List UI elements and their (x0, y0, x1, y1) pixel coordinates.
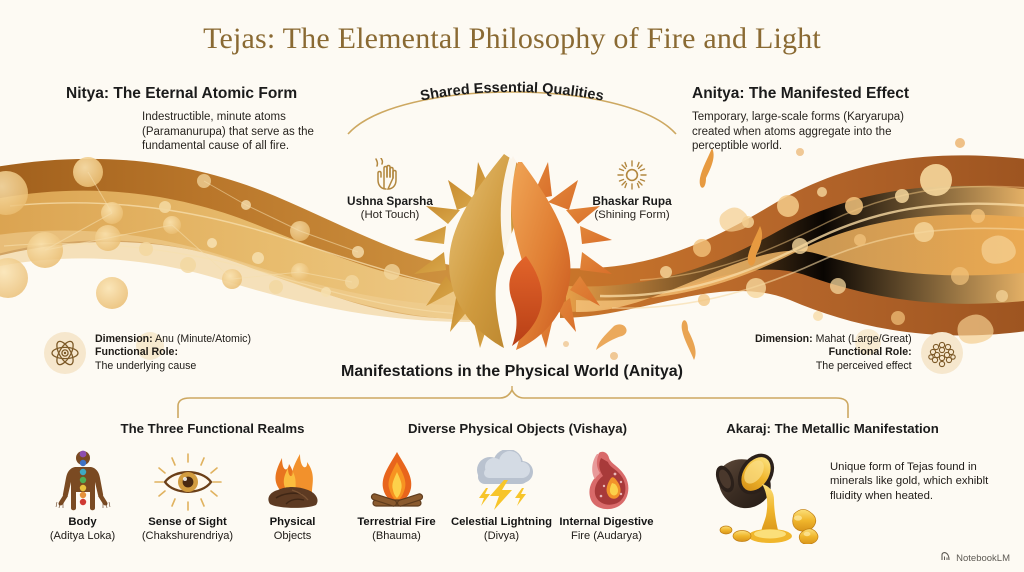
right-pillar-body: Temporary, large-scale forms (Karyarupa)… (692, 110, 907, 154)
arc-label: Shared Essential Qualities (419, 80, 605, 105)
quality-name: Ushna Sparsha (324, 194, 456, 208)
quality-sub: (Shining Form) (566, 208, 698, 222)
list-item[interactable]: Terrestrial Fire (Bhauma) (344, 450, 449, 543)
stomach-fire-icon (554, 450, 659, 512)
watermark-label: NotebookLM (956, 553, 1010, 564)
manifestations-heading: Manifestations in the Physical World (An… (0, 363, 1024, 381)
role-label: Functional Role: (95, 346, 178, 358)
item-sub: (Bhauma) (344, 530, 449, 544)
item-label: Body (30, 516, 135, 530)
item-sub: Fire (Audarya) (554, 530, 659, 544)
dimension-label: Dimension: (755, 333, 813, 345)
item-label: Physical (240, 516, 345, 530)
eye-of-sight-icon (135, 450, 240, 512)
quality-bhaskar-rupa: Bhaskar Rupa (Shining Form) (566, 158, 698, 222)
quality-sub: (Hot Touch) (324, 208, 456, 222)
campfire-icon (344, 450, 449, 512)
watermark: NotebookLM (941, 551, 1010, 565)
left-pillar-heading: Nitya: The Eternal Atomic Form (66, 85, 297, 103)
lightning-cloud-icon (449, 450, 554, 512)
realms-item-group: Body (Aditya Loka) (30, 450, 345, 543)
role-label: Functional Role: (829, 346, 912, 358)
item-label: Terrestrial Fire (344, 516, 449, 530)
list-item[interactable]: Physical Objects (240, 450, 345, 543)
list-item[interactable]: Body (Aditya Loka) (30, 450, 135, 543)
dimension-label: Dimension: (95, 333, 153, 345)
list-item[interactable]: Internal Digestive Fire (Audarya) (554, 450, 659, 543)
item-sub: (Aditya Loka) (30, 530, 135, 544)
akaraj-body: Unique form of Tejas found in minerals l… (830, 452, 1012, 544)
column-heading-akaraj: Akaraj: The Metallic Manifestation (700, 421, 965, 436)
page-title: Tejas: The Elemental Philosophy of Fire … (0, 22, 1024, 56)
shared-qualities-arc: Shared Essential Qualities (338, 70, 686, 140)
quality-name: Bhaskar Rupa (566, 194, 698, 208)
manifestations-bracket (0, 386, 1024, 420)
quality-ushna-sparsha: Ushna Sparsha (Hot Touch) (324, 158, 456, 222)
list-item[interactable]: Celestial Lightning (Divya) (449, 450, 554, 543)
column-heading-objects: Diverse Physical Objects (Vishaya) (385, 421, 650, 436)
molten-gold-pour-icon (712, 452, 824, 544)
left-pillar-body: Indestructible, minute atoms (Paramanuru… (142, 110, 357, 154)
objects-item-group: Terrestrial Fire (Bhauma) (344, 450, 659, 543)
item-label: Celestial Lightning (449, 516, 554, 530)
item-sub: Objects (240, 530, 345, 544)
notebooklm-icon (941, 551, 952, 565)
column-heading-realms: The Three Functional Realms (80, 421, 345, 436)
shining-sun-icon (566, 158, 698, 192)
infographic-canvas: Tejas: The Elemental Philosophy of Fire … (0, 0, 1024, 572)
hot-hand-icon (324, 158, 456, 192)
arc-line (348, 92, 676, 134)
item-label: Internal Digestive (554, 516, 659, 530)
burning-rock-icon (240, 450, 345, 512)
dimension-value: Anu (Minute/Atomic) (155, 333, 251, 345)
item-sub: (Chakshurendriya) (135, 530, 240, 544)
dimension-value: Mahat (Large/Great) (816, 333, 912, 345)
right-pillar-heading: Anitya: The Manifested Effect (692, 85, 909, 103)
akaraj-block: Unique form of Tejas found in minerals l… (712, 452, 1012, 544)
item-label: Sense of Sight (135, 516, 240, 530)
item-sub: (Divya) (449, 530, 554, 544)
chakra-body-icon (30, 450, 135, 512)
list-item[interactable]: Sense of Sight (Chakshurendriya) (135, 450, 240, 543)
